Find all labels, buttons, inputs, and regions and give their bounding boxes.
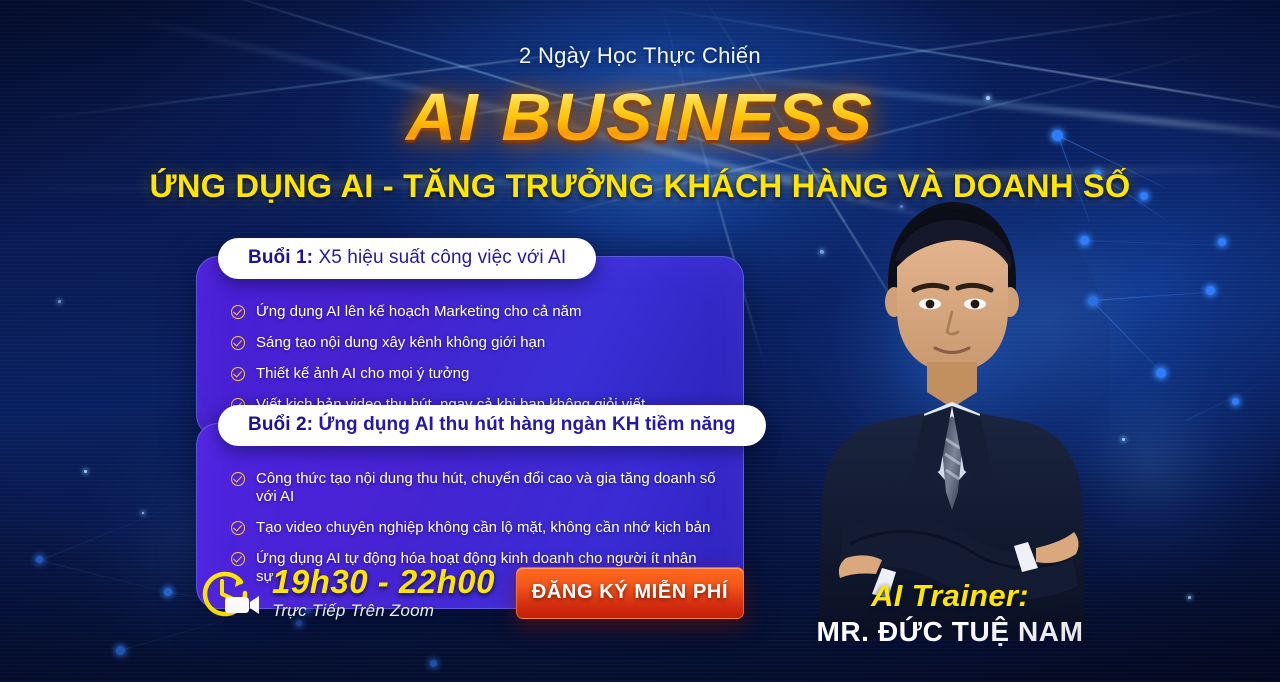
list-item: Thiết kế ảnh AI cho mọi ý tưởng [231,365,717,383]
promo-banner: 2 Ngày Học Thực Chiến AI BUSINESS ỨNG DỤ… [0,0,1280,682]
page-subtitle: ỨNG DỤNG AI - TĂNG TRƯỞNG KHÁCH HÀNG VÀ … [0,168,1280,205]
session-platform: Trực Tiếp Trên Zoom [272,601,495,621]
check-circle-icon [231,552,245,566]
eyebrow-text: 2 Ngày Học Thực Chiến [0,43,1280,69]
video-camera-icon [196,566,262,620]
check-circle-icon [231,367,245,381]
list-item: Sáng tạo nội dung xây kênh không giới hạ… [231,334,717,352]
session-1-title: X5 hiệu suất công việc với AI [313,247,566,268]
bullet-text: Thiết kế ảnh AI cho mọi ý tưởng [256,365,469,383]
session-time: 19h30 - 22h00 [272,565,495,600]
check-circle-icon [231,472,245,486]
trainer-role-label: AI Trainer: [790,578,1110,614]
check-circle-icon [231,521,245,535]
page-title: AI BUSINESS [0,84,1280,151]
session-1-bullet-list: Ứng dụng AI lên kế hoạch Marketing cho c… [231,303,717,414]
check-circle-icon [231,305,245,319]
bullet-text: Sáng tạo nội dung xây kênh không giới hạ… [256,334,545,352]
register-button[interactable]: ĐĂNG KÝ MIỄN PHÍ [516,567,744,619]
session-2-title: Ứng dụng AI thu hút hàng ngàn KH tiềm nă… [313,414,736,435]
session-1-label: Buổi 1: [248,247,313,268]
session-1-title-pill: Buổi 1: X5 hiệu suất công việc với AI [218,238,596,279]
check-circle-icon [231,336,245,350]
bullet-text: Ứng dụng AI lên kế hoạch Marketing cho c… [256,303,582,321]
schedule-icon-group [196,566,262,620]
footer-bar: 19h30 - 22h00 Trực Tiếp Trên Zoom ĐĂNG K… [196,565,744,621]
list-item: Ứng dụng AI lên kế hoạch Marketing cho c… [231,303,717,321]
presenter-photo [790,170,1110,640]
bullet-text: Công thức tạo nội dung thu hút, chuyển đ… [256,470,717,506]
session-2-label: Buổi 2: [248,414,313,435]
bullet-text: Tạo video chuyên nghiệp không cần lộ mặt… [256,519,710,537]
list-item: Công thức tạo nội dung thu hút, chuyển đ… [231,470,717,506]
trainer-name: MR. ĐỨC TUỆ NAM [770,616,1130,648]
session-2-title-pill: Buổi 2: Ứng dụng AI thu hút hàng ngàn KH… [218,405,766,446]
time-block: 19h30 - 22h00 Trực Tiếp Trên Zoom [272,565,495,621]
list-item: Tạo video chuyên nghiệp không cần lộ mặt… [231,519,717,537]
